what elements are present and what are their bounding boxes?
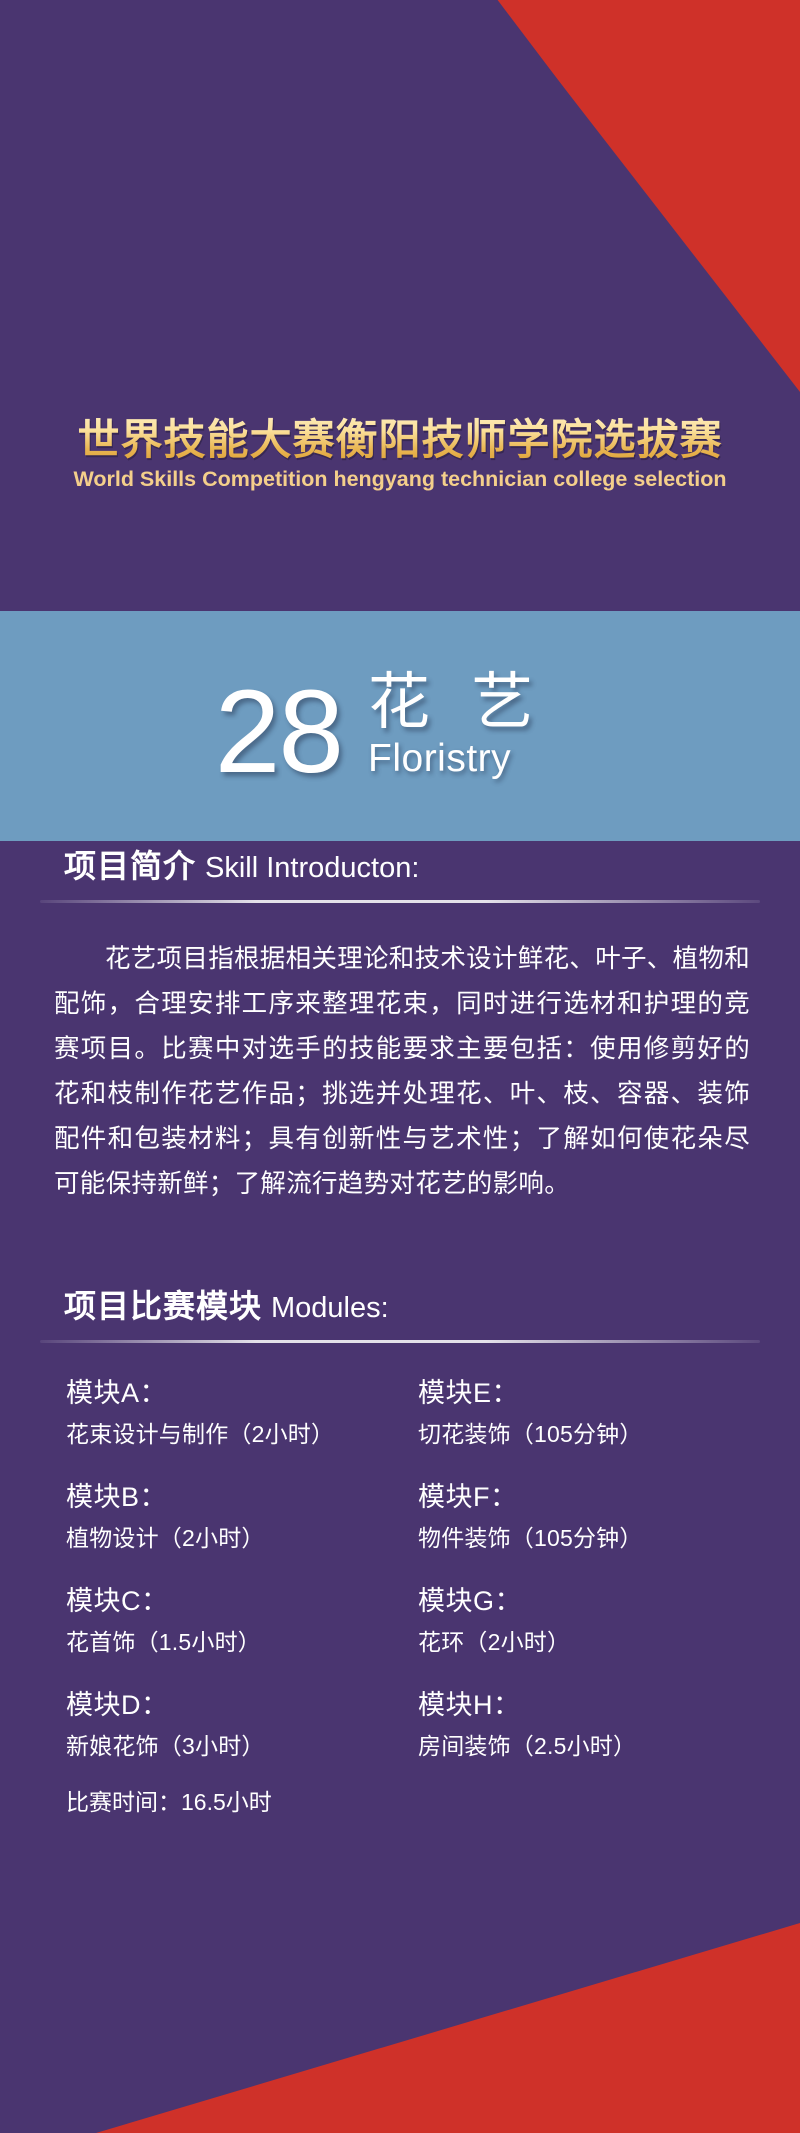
module-label: 模块C： <box>66 1579 408 1623</box>
trade-band: 28 花 艺 Floristry <box>0 611 800 841</box>
skill-introduction-heading: 项目简介 Skill Introducton: <box>40 841 760 887</box>
module-item: 模块F： 物件装饰（105分钟） <box>418 1475 760 1557</box>
modules-section: 项目比赛模块 Modules: 模块A： 花束设计与制作（2小时） 模块E： 切… <box>40 1281 760 1821</box>
module-label: 模块B： <box>66 1475 408 1519</box>
module-label: 模块F： <box>418 1475 760 1519</box>
skill-introduction-body: 花艺项目指根据相关理论和技术设计鲜花、叶子、植物和配饰，合理安排工序来整理花束，… <box>40 937 760 1207</box>
trade-name-chinese: 花 艺 <box>368 670 545 736</box>
modules-heading-zh: 项目比赛模块 <box>64 1281 262 1327</box>
module-value: 房间装饰（2.5小时） <box>418 1727 760 1765</box>
bottom-red-diagonal-decoration <box>0 1923 800 2133</box>
poster-content: 项目简介 Skill Introducton: 花艺项目指根据相关理论和技术设计… <box>0 841 800 1821</box>
skill-introduction-section: 项目简介 Skill Introducton: 花艺项目指根据相关理论和技术设计… <box>40 841 760 1207</box>
skill-introduction-heading-en: Skill Introducton: <box>205 852 419 885</box>
module-value: 新娘花饰（3小时） <box>66 1727 408 1765</box>
skill-introduction-divider <box>40 900 760 903</box>
poster-title-chinese: 世界技能大赛衡阳技师学院选拔赛 <box>0 406 800 467</box>
module-value: 切花装饰（105分钟） <box>418 1415 760 1453</box>
module-item: 模块B： 植物设计（2小时） <box>66 1475 408 1557</box>
module-item: 模块H： 房间装饰（2.5小时） <box>418 1683 760 1765</box>
module-label: 模块G： <box>418 1579 760 1623</box>
module-item: 模块C： 花首饰（1.5小时） <box>66 1579 408 1661</box>
module-value: 花束设计与制作（2小时） <box>66 1415 408 1453</box>
modules-heading-en: Modules: <box>271 1292 389 1325</box>
module-label: 模块A： <box>66 1371 408 1415</box>
modules-divider <box>40 1340 760 1343</box>
module-item: 模块E： 切花装饰（105分钟） <box>418 1371 760 1453</box>
skill-introduction-heading-zh: 项目简介 <box>64 841 196 887</box>
module-value: 植物设计（2小时） <box>66 1519 408 1557</box>
total-competition-time: 比赛时间：16.5小时 <box>66 1783 408 1821</box>
trade-name-english: Floristry <box>368 738 545 780</box>
poster-title-english: World Skills Competition hengyang techni… <box>0 467 800 492</box>
module-item: 模块A： 花束设计与制作（2小时） <box>66 1371 408 1453</box>
module-label: 模块H： <box>418 1683 760 1727</box>
module-label: 模块D： <box>66 1683 408 1727</box>
modules-heading: 项目比赛模块 Modules: <box>40 1281 760 1327</box>
trade-number: 28 <box>215 682 342 782</box>
module-value: 物件装饰（105分钟） <box>418 1519 760 1557</box>
module-item: 模块G： 花环（2小时） <box>418 1579 760 1661</box>
module-value: 花首饰（1.5小时） <box>66 1623 408 1661</box>
module-value: 花环（2小时） <box>418 1623 760 1661</box>
poster-root: 衡阳技师学院 HENGYANG TECHNICIAN COLLEGE <box>0 0 800 2133</box>
module-label: 模块E： <box>418 1371 760 1415</box>
modules-grid: 模块A： 花束设计与制作（2小时） 模块E： 切花装饰（105分钟） 模块B： … <box>40 1371 760 1821</box>
module-item: 模块D： 新娘花饰（3小时） <box>66 1683 408 1765</box>
